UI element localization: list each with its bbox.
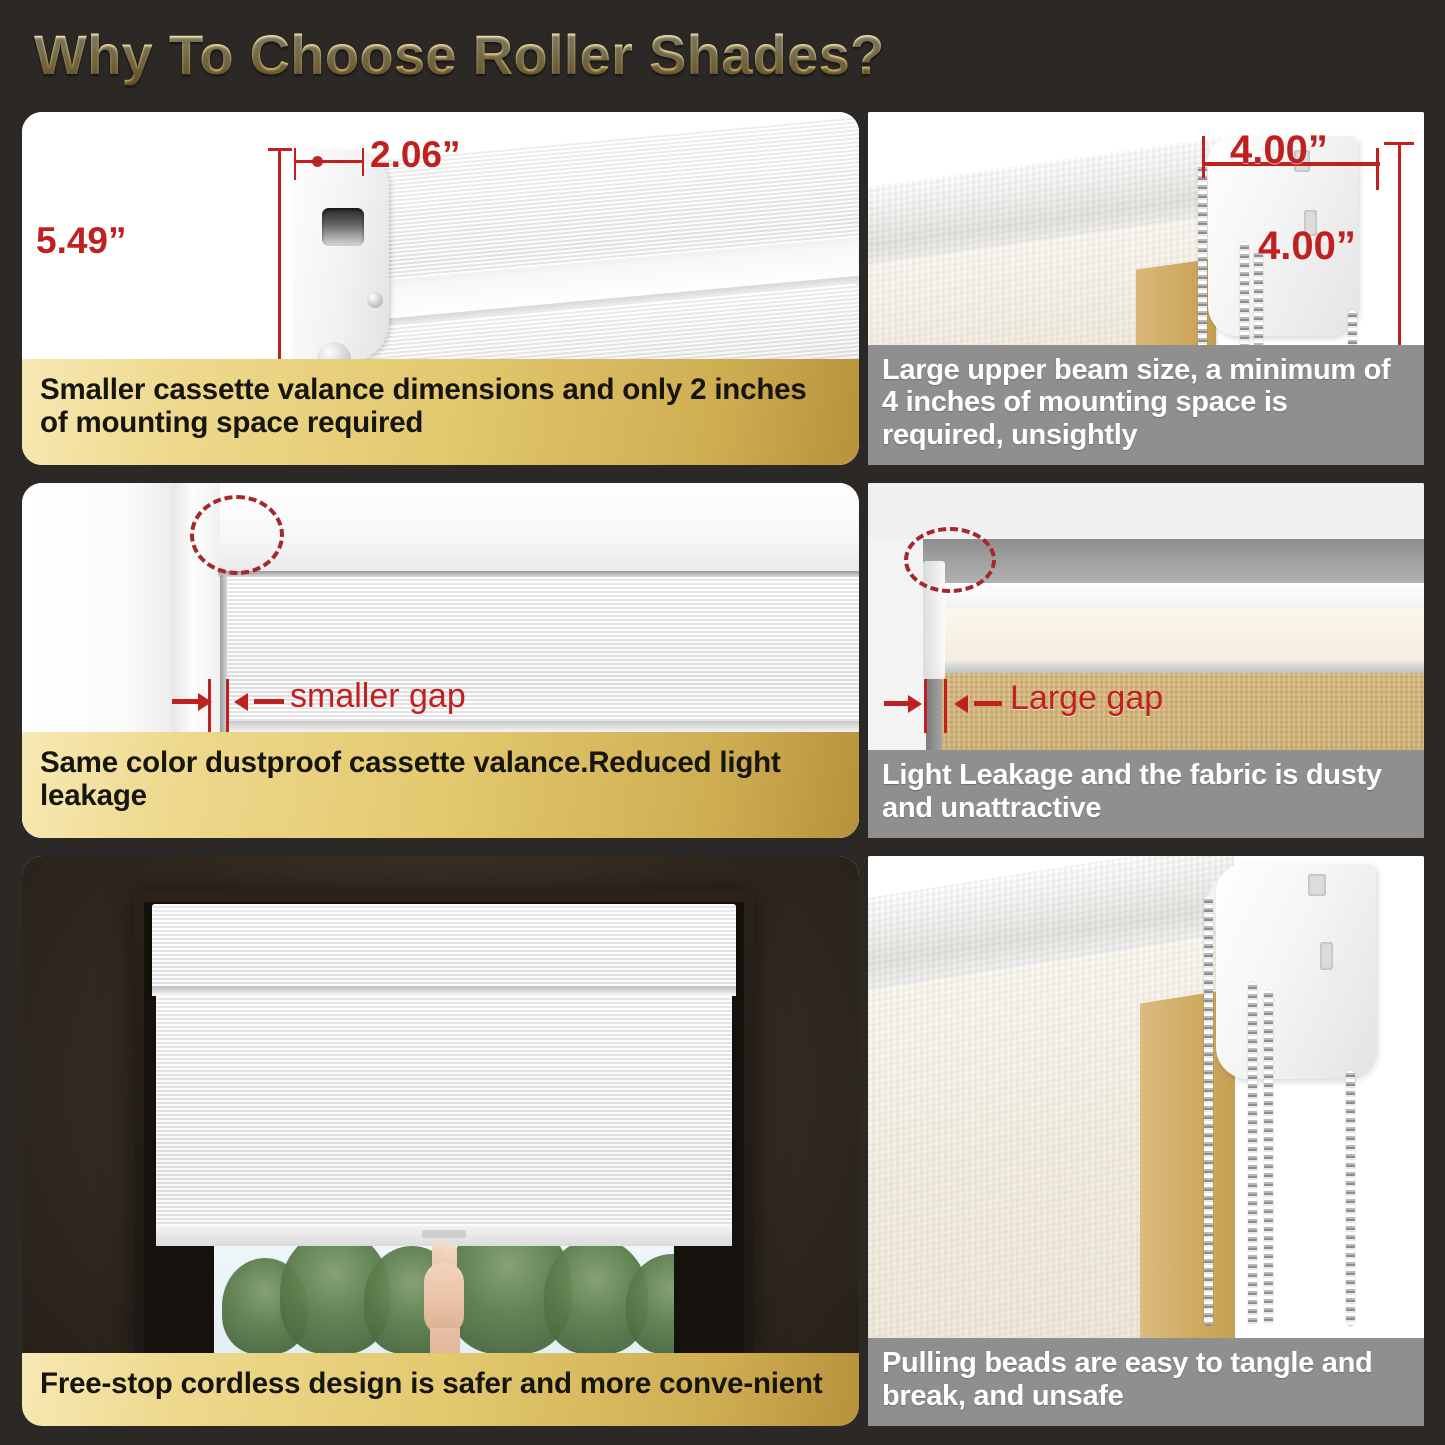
gap-edge-marker-right (226, 679, 229, 733)
width-dimension-label: 2.06” (370, 134, 461, 176)
valance-lip (152, 986, 736, 996)
bracket-screw-upper (367, 292, 383, 308)
bead-chain-2 (1248, 982, 1257, 1326)
gap-arrow-head-left (908, 695, 922, 713)
caption-top-left: Smaller cassette valance dimensions and … (22, 359, 859, 465)
beam-width-tick-left (1202, 136, 1205, 178)
beam-height-label: 4.00” (1258, 224, 1356, 269)
panel-top-right: 4.00” 4.00” Large upper beam size, a min… (868, 112, 1424, 465)
ceiling-shadow (923, 539, 1424, 587)
caption-bottom-left: Free-stop cordless design is safer and m… (22, 1353, 859, 1426)
beam-height-line (1398, 142, 1401, 348)
bracket-hole (322, 208, 364, 246)
gap-label-large: Large gap (1010, 679, 1163, 718)
panel-middle-left: smaller gap Same color dustproof cassett… (22, 483, 859, 838)
panel-middle-right: Large gap Light Leakage and the fabric i… (868, 483, 1424, 838)
panel-top-left: 2.06” 5.49” Smaller cassette valance dim… (22, 112, 859, 465)
roller-shade-fabric (156, 996, 732, 1242)
shade-pull-tab (422, 1230, 466, 1238)
gap-highlight-ring (190, 495, 284, 575)
gap-arrow-head-right (234, 693, 248, 711)
height-dimension-label: 5.49” (36, 220, 127, 262)
caption-bottom-right: Pulling beads are easy to tangle and bre… (868, 1338, 1424, 1426)
page-title: Why To Choose Roller Shades? (34, 22, 885, 87)
cream-valance-band (930, 609, 1424, 669)
caption-top-right: Large upper beam size, a minimum of 4 in… (868, 345, 1424, 465)
gap-arrow-head-right (954, 695, 968, 713)
gap-arrow-shaft-right (974, 701, 1002, 706)
bead-chain-4 (1346, 1070, 1355, 1326)
panel-bottom-left: Free-stop cordless design is safer and m… (22, 856, 859, 1426)
cassette-end-bracket (294, 150, 389, 362)
gap-highlight-ring (904, 527, 996, 593)
height-dim-tick-top (268, 148, 292, 151)
beam-width-label: 4.00” (1230, 128, 1328, 173)
room-window-photo (22, 856, 859, 1426)
hand-lifting-shade (418, 1242, 470, 1362)
caption-middle-right: Light Leakage and the fabric is dusty an… (868, 750, 1424, 838)
window-frame (134, 890, 754, 1360)
header-bar: Why To Choose Roller Shades? (0, 0, 1445, 105)
panel-bottom-right: Pulling beads are easy to tangle and bre… (868, 856, 1424, 1426)
mounting-bracket (1216, 864, 1376, 1079)
palm (424, 1262, 464, 1334)
width-dim-line (294, 160, 364, 163)
cassette-valance (152, 904, 736, 994)
gap-edge-marker-right (944, 679, 947, 733)
beam-width-tick-right (1376, 148, 1379, 190)
beam-height-tick-top (1384, 142, 1414, 145)
bead-chain-3 (1264, 990, 1273, 1326)
width-dim-tick-left (294, 148, 296, 180)
caption-middle-left: Same color dustproof cassette valance.Re… (22, 732, 859, 838)
infographic-page: Why To Choose Roller Shades? 2.06” 5.49”… (0, 0, 1445, 1445)
gap-label-small: smaller gap (290, 677, 466, 716)
gap-arrow-shaft-left (884, 701, 910, 706)
bead-chain-1 (1204, 896, 1213, 1326)
gap-edge-marker-left (924, 679, 927, 733)
gap-arrow-head-left (198, 693, 212, 711)
gap-arrow-shaft-right (254, 699, 284, 704)
